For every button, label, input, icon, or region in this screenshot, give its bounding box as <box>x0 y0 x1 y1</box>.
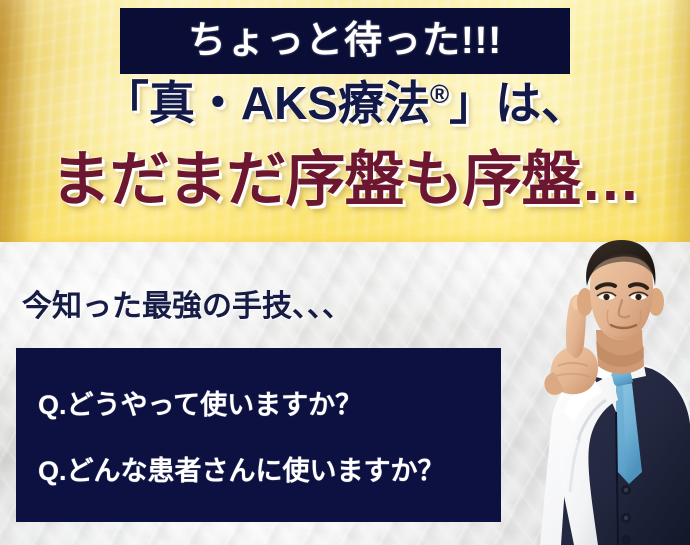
presenter-photo <box>466 240 690 545</box>
kicker-box: ちょっと待った!!! <box>120 8 570 74</box>
eye-right-pupil <box>635 294 641 300</box>
headline-line-2: 「真・AKS療法®」は、 <box>0 80 690 126</box>
kicker-text: ちょっと待った!!! <box>188 22 502 60</box>
question-line-2: Q.どんな患者さんに使いますか？ <box>38 458 445 485</box>
registered-trademark-icon: ® <box>430 79 449 109</box>
vest-button-hole <box>624 516 628 520</box>
promo-banner-page: ちょっと待った!!! 「真・AKS療法®」は、 まだまだ序盤も序盤… 今知った最… <box>0 0 690 545</box>
question-box: Q.どうやって使いますか？ Q.どんな患者さんに使いますか？ <box>16 348 501 522</box>
headline-line-2-post: 」は、 <box>449 77 587 129</box>
headline-line-3: まだまだ序盤も序盤… <box>0 150 690 210</box>
vest-button-hole <box>624 488 628 492</box>
vest-button <box>621 535 631 545</box>
sub-headline: 今知った最強の手技、、、 <box>22 292 352 322</box>
eye-left-pupil <box>603 294 609 300</box>
question-line-1: Q.どうやって使いますか？ <box>38 392 362 419</box>
headline-line-2-pre: 「真・AKS療法 <box>103 77 430 129</box>
